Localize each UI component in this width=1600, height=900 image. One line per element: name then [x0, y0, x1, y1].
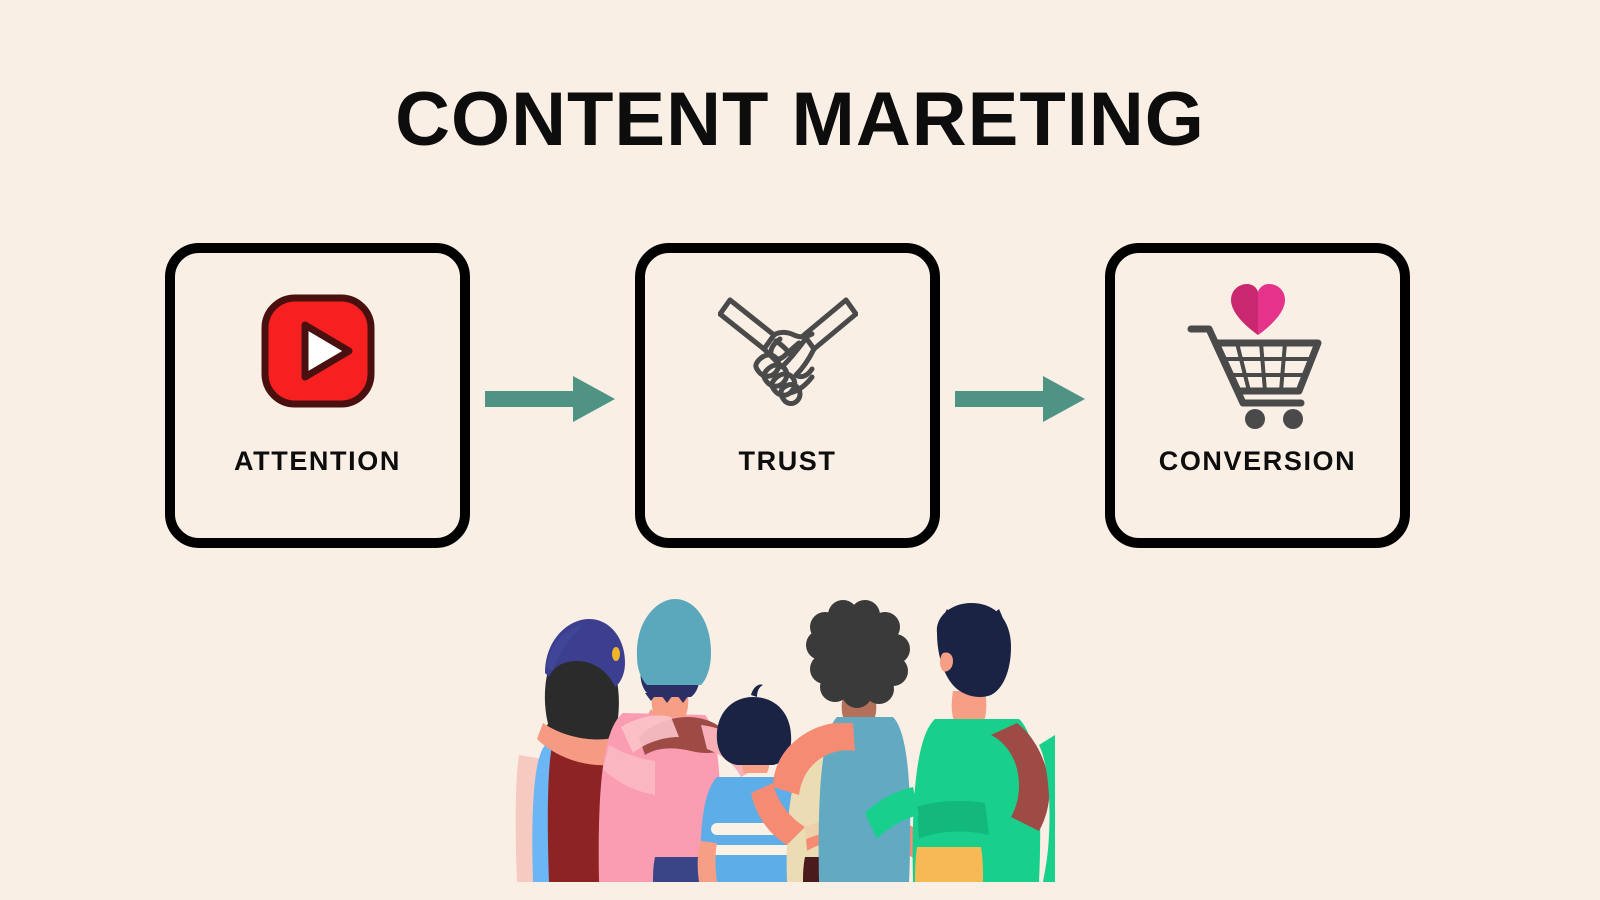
stage-card-trust[interactable]: TRUST: [635, 243, 940, 548]
stage-card-attention[interactable]: ATTENTION: [165, 243, 470, 548]
stage-label-attention: ATTENTION: [234, 448, 401, 475]
handshake-icon: [645, 253, 930, 448]
group-of-people-embracing: [505, 595, 1055, 882]
arrow-attention-to-trust: [485, 374, 615, 424]
infographic-canvas: CONTENT MARETING ATTENTION: [0, 0, 1600, 900]
stage-card-conversion[interactable]: CONVERSION: [1105, 243, 1410, 548]
arrow-trust-to-conversion: [955, 374, 1085, 424]
play-button-icon: [175, 253, 460, 448]
stage-row: ATTENTION: [165, 243, 1410, 548]
stage-label-conversion: CONVERSION: [1159, 448, 1357, 475]
page-title: CONTENT MARETING: [0, 82, 1600, 158]
shopping-cart-with-heart-icon: [1115, 253, 1400, 448]
stage-label-trust: TRUST: [739, 448, 837, 475]
